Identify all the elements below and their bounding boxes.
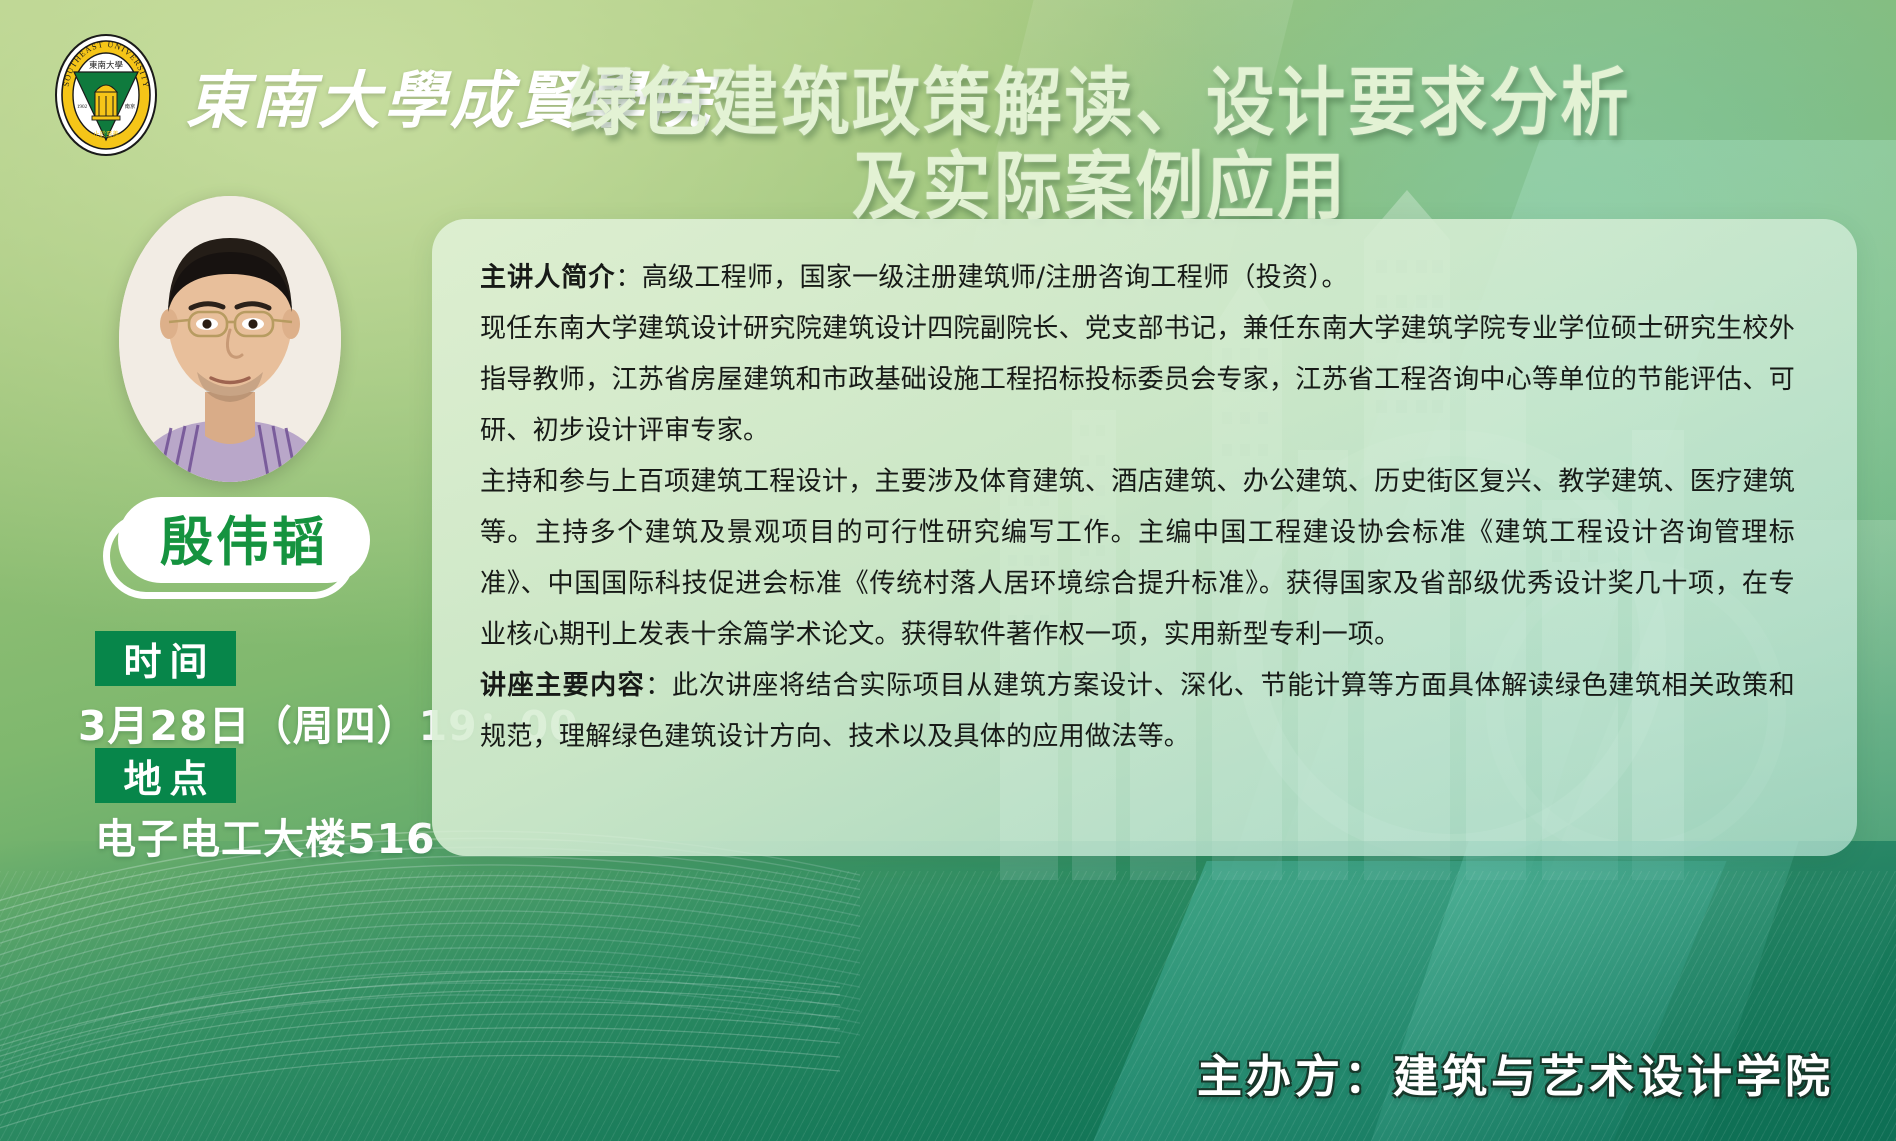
bio-lead-paragraph: 主讲人简介：高级工程师，国家一级注册建筑师/注册咨询工程师（投资）。 [480, 252, 1795, 303]
time-label: 时间 [123, 631, 215, 686]
lecture-poster: SOUTHEAST UNIVERSITY 東南大學 1902 南京 止於至善 東… [0, 0, 1896, 1141]
bio-paragraph-2: 主持和参与上百项建筑工程设计，主要涉及体育建筑、酒店建筑、办公建筑、历史街区复兴… [480, 456, 1795, 660]
wave-lines-graphic [0, 911, 840, 1141]
bio-paragraph-1: 现任东南大学建筑设计研究院建筑设计四院副院长、党支部书记，兼任东南大学建筑学院专… [480, 303, 1795, 456]
svg-text:南京: 南京 [125, 102, 135, 110]
bio-heading: 主讲人简介 [480, 262, 615, 293]
svg-text:止於至善: 止於至善 [93, 129, 119, 138]
time-label-tag: 时间 [95, 631, 236, 686]
poster-title: 绿色建筑政策解读、设计要求分析 及实际案例应用 [470, 62, 1730, 229]
svg-text:東南大學: 東南大學 [89, 60, 124, 70]
lecture-body-text: 此次讲座将结合实际项目从建筑方案设计、深化、节能计算等方面具体解读绿色建筑相关政… [480, 670, 1795, 752]
lecture-colon: ： [645, 670, 672, 701]
content-panel: 主讲人简介：高级工程师，国家一级注册建筑师/注册咨询工程师（投资）。 现任东南大… [432, 219, 1857, 856]
speaker-portrait [119, 196, 341, 482]
organizer-footer: 主办方：建筑与艺术设计学院 [1197, 1040, 1834, 1105]
speaker-name-badge: 殷伟韬 [95, 497, 370, 605]
title-line-1: 绿色建筑政策解读、设计要求分析 [520, 62, 1679, 146]
place-value: 电子电工大楼516 [95, 805, 436, 865]
bio-colon: ： [615, 262, 641, 293]
lecture-content-paragraph: 讲座主要内容：此次讲座将结合实际项目从建筑方案设计、深化、节能计算等方面具体解读… [480, 660, 1795, 762]
name-badge-pill: 殷伟韬 [118, 497, 370, 583]
speaker-name: 殷伟韬 [160, 500, 328, 576]
southeast-university-seal-icon: SOUTHEAST UNIVERSITY 東南大學 1902 南京 止於至善 [52, 32, 160, 158]
place-label: 地点 [123, 748, 215, 803]
lecture-heading: 讲座主要内容 [480, 670, 645, 701]
svg-text:1902: 1902 [77, 104, 88, 110]
title-line-2: 及实际案例应用 [520, 146, 1679, 230]
place-label-tag: 地点 [95, 748, 236, 803]
bio-lead-text: 高级工程师，国家一级注册建筑师/注册咨询工程师（投资）。 [642, 262, 1348, 293]
